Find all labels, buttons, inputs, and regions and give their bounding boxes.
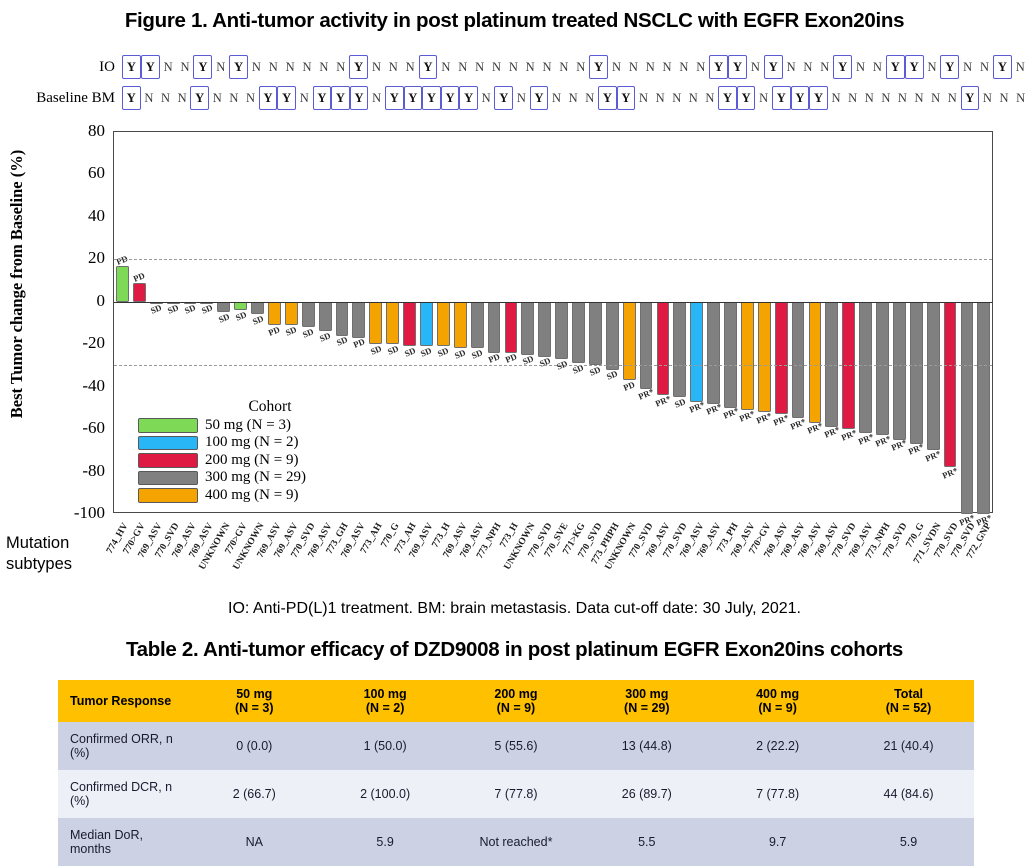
bar-response-label: SD bbox=[183, 303, 197, 317]
io-cell: N bbox=[315, 55, 332, 79]
bar-column[interactable]: SD bbox=[671, 132, 688, 512]
table-row: Confirmed DCR, n (%)2 (66.7)2 (100.0)7 (… bbox=[58, 770, 974, 818]
bar[interactable] bbox=[420, 302, 433, 347]
y-axis-tick: 0 bbox=[5, 291, 105, 311]
table-cell: 7 (77.8) bbox=[712, 770, 843, 818]
table-cell: 13 (44.8) bbox=[581, 722, 712, 770]
bar-response-label: SD bbox=[369, 343, 383, 357]
bar-column[interactable]: PR* bbox=[722, 132, 739, 512]
io-cell: N bbox=[282, 55, 299, 79]
bar[interactable] bbox=[876, 302, 889, 436]
io-cell: N bbox=[488, 55, 505, 79]
bar[interactable] bbox=[775, 302, 788, 414]
bar-column[interactable]: PR* bbox=[925, 132, 942, 512]
table-column-header-line2: (N = 29) bbox=[583, 701, 710, 715]
x-axis-column: 773_AH bbox=[367, 519, 384, 589]
table-column-header: 300 mg(N = 29) bbox=[581, 680, 712, 722]
y-axis-tick: 40 bbox=[5, 206, 105, 226]
bar-column[interactable]: PD bbox=[114, 132, 131, 512]
bar-response-label: PR* bbox=[772, 412, 790, 427]
bar-column[interactable]: PD bbox=[486, 132, 503, 512]
bm-cell: Y bbox=[772, 86, 791, 110]
io-cell: Y bbox=[709, 55, 728, 79]
io-cell: Y bbox=[141, 55, 160, 79]
io-cell: Y bbox=[764, 55, 783, 79]
bar[interactable] bbox=[825, 302, 838, 427]
bar[interactable] bbox=[268, 302, 281, 325]
io-cell: Y bbox=[886, 55, 905, 79]
table-column-header-line2: (N = 3) bbox=[191, 701, 318, 715]
table-cell: 5.5 bbox=[581, 818, 712, 866]
legend-item[interactable]: 100 mg (N = 2) bbox=[138, 434, 368, 452]
bm-cell: Y bbox=[718, 86, 737, 110]
bar-column[interactable]: PR* bbox=[705, 132, 722, 512]
bar-column[interactable]: PR* bbox=[908, 132, 925, 512]
x-axis-column: 770_SVD bbox=[891, 519, 908, 589]
bar-response-label: SD bbox=[538, 356, 552, 370]
bar-column[interactable]: PR* bbox=[823, 132, 840, 512]
legend-label: 200 mg (N = 9) bbox=[205, 452, 298, 469]
io-cell: Y bbox=[940, 55, 959, 79]
bm-cell: Y bbox=[313, 86, 332, 110]
bar-column[interactable]: SD bbox=[519, 132, 536, 512]
io-cell: N bbox=[1012, 55, 1029, 79]
table-cell: 1 (50.0) bbox=[320, 722, 451, 770]
io-cell: N bbox=[642, 55, 659, 79]
bar[interactable] bbox=[538, 302, 551, 357]
annotation-rows: IO YYNNYNYNNNNNNYNNNYNNNNNNNNNYNNNNNNYYN… bbox=[0, 52, 1029, 120]
table-column-header: 50 mg(N = 3) bbox=[189, 680, 320, 722]
bar-response-label: SD bbox=[470, 347, 484, 361]
bar-column[interactable]: PR* bbox=[688, 132, 705, 512]
bm-cell: N bbox=[226, 86, 243, 110]
bar[interactable] bbox=[302, 302, 315, 327]
bar-response-label: PR* bbox=[907, 442, 925, 457]
io-cell: N bbox=[212, 55, 229, 79]
bar-response-label: PD bbox=[132, 270, 146, 284]
bm-cell: N bbox=[652, 86, 669, 110]
bm-cell: Y bbox=[441, 86, 460, 110]
legend-label: 50 mg (N = 3) bbox=[205, 417, 291, 434]
bar[interactable] bbox=[893, 302, 906, 440]
bm-cell: N bbox=[979, 86, 996, 110]
bm-cell: Y bbox=[422, 86, 441, 110]
io-cell: N bbox=[869, 55, 886, 79]
bar[interactable] bbox=[217, 302, 230, 313]
bar-column[interactable]: SD bbox=[469, 132, 486, 512]
table-cell: 7 (77.8) bbox=[451, 770, 582, 818]
bar-response-label: PR* bbox=[941, 465, 959, 480]
table-cell: 26 (89.7) bbox=[581, 770, 712, 818]
table-cell: NA bbox=[189, 818, 320, 866]
mutation-subtypes-label-line: Mutation bbox=[6, 533, 111, 554]
bm-cell: Y bbox=[494, 86, 513, 110]
bm-cell: N bbox=[911, 86, 928, 110]
bar-response-label: SD bbox=[217, 311, 231, 325]
io-cell: Y bbox=[349, 55, 368, 79]
bar-column[interactable]: SD bbox=[367, 132, 384, 512]
x-axis-column: 773_NPH bbox=[485, 519, 502, 589]
bar[interactable] bbox=[251, 302, 264, 315]
table-cell: 2 (22.2) bbox=[712, 722, 843, 770]
io-cell: N bbox=[522, 55, 539, 79]
bar-response-label: PD bbox=[504, 351, 518, 365]
table-cell: 44 (84.6) bbox=[843, 770, 974, 818]
bm-cell: N bbox=[548, 86, 565, 110]
table-header-row: Tumor Response50 mg(N = 3)100 mg(N = 2)2… bbox=[58, 680, 974, 722]
bm-row-label: Baseline BM bbox=[0, 90, 121, 107]
legend-swatch bbox=[138, 418, 198, 433]
io-cell: N bbox=[659, 55, 676, 79]
bar-response-label: PR* bbox=[823, 425, 841, 440]
bm-cell: N bbox=[668, 86, 685, 110]
io-cell: N bbox=[505, 55, 522, 79]
x-axis-column: 769_ASV bbox=[418, 519, 435, 589]
chart-legend: Cohort 50 mg (N = 3)100 mg (N = 2)200 mg… bbox=[138, 398, 368, 505]
bar[interactable] bbox=[623, 302, 636, 381]
bar-column[interactable]: PR* bbox=[807, 132, 824, 512]
bar-column[interactable]: SD bbox=[570, 132, 587, 512]
bm-cell: N bbox=[755, 86, 772, 110]
bar-response-label: PR* bbox=[840, 427, 858, 442]
bar-response-label: SD bbox=[335, 334, 349, 348]
bar[interactable] bbox=[724, 302, 737, 408]
bar[interactable] bbox=[555, 302, 568, 359]
bar[interactable] bbox=[116, 266, 129, 302]
bar[interactable] bbox=[369, 302, 382, 344]
bar-response-label: PD bbox=[487, 351, 501, 365]
io-cell: N bbox=[332, 55, 349, 79]
io-cell: N bbox=[160, 55, 177, 79]
bar-response-label: PR* bbox=[654, 393, 672, 408]
bar-column[interactable]: PR* bbox=[739, 132, 756, 512]
bar-response-label: SD bbox=[419, 345, 433, 359]
table-column-header-line2: (N = 52) bbox=[845, 701, 972, 715]
bar[interactable] bbox=[977, 302, 990, 514]
bar[interactable] bbox=[809, 302, 822, 423]
bar[interactable] bbox=[471, 302, 484, 349]
bm-cell: Y bbox=[598, 86, 617, 110]
bar[interactable] bbox=[352, 302, 365, 338]
bar-column[interactable]: PR* bbox=[891, 132, 908, 512]
legend-swatch bbox=[138, 453, 198, 468]
bar-column[interactable]: PR* bbox=[638, 132, 655, 512]
bm-cell: Y bbox=[190, 86, 209, 110]
table-cell: 2 (66.7) bbox=[189, 770, 320, 818]
bar-column[interactable]: PR* bbox=[874, 132, 891, 512]
table-column-header-line2: (N = 9) bbox=[453, 701, 580, 715]
table-column-header-line1: 50 mg bbox=[191, 687, 318, 701]
bar-response-label: SD bbox=[149, 303, 163, 317]
bar-column[interactable]: PR* bbox=[942, 132, 959, 512]
io-cell: N bbox=[625, 55, 642, 79]
bar[interactable] bbox=[927, 302, 940, 451]
table-column-header: 400 mg(N = 9) bbox=[712, 680, 843, 722]
legend-swatch bbox=[138, 436, 198, 451]
legend-swatch bbox=[138, 471, 198, 486]
bar-response-label: SD bbox=[436, 345, 450, 359]
bm-cell: Y bbox=[385, 86, 404, 110]
bar-column[interactable]: PR* bbox=[756, 132, 773, 512]
bm-cell: N bbox=[209, 86, 226, 110]
bm-cell: Y bbox=[331, 86, 350, 110]
io-cell: N bbox=[608, 55, 625, 79]
zero-line bbox=[114, 302, 992, 303]
table-column-header-line1: Tumor Response bbox=[70, 694, 187, 708]
bm-cell: N bbox=[685, 86, 702, 110]
bm-cell: Y bbox=[617, 86, 636, 110]
io-row-label: IO bbox=[0, 59, 121, 76]
io-cell: N bbox=[924, 55, 941, 79]
bar-column[interactable]: SD bbox=[452, 132, 469, 512]
io-cell: N bbox=[959, 55, 976, 79]
legend-item[interactable]: 300 mg (N = 29) bbox=[138, 469, 368, 487]
bar-column[interactable]: PD bbox=[621, 132, 638, 512]
bm-cells: YNNNYNNNYYNYYYNYYYYYNYNYNNNYYNNNNNYYNYYY… bbox=[121, 85, 1029, 111]
io-cell: N bbox=[248, 55, 265, 79]
bar[interactable] bbox=[910, 302, 923, 444]
table-cell: Not reached* bbox=[451, 818, 582, 866]
bm-cell: N bbox=[513, 86, 530, 110]
bar-response-label: SD bbox=[453, 347, 467, 361]
bar-response-label: PD bbox=[267, 324, 281, 338]
bm-cell: N bbox=[368, 86, 385, 110]
bar[interactable] bbox=[741, 302, 754, 410]
io-cell: Y bbox=[905, 55, 924, 79]
io-cell: Y bbox=[833, 55, 852, 79]
table-cell: 0 (0.0) bbox=[189, 722, 320, 770]
efficacy-table: Tumor Response50 mg(N = 3)100 mg(N = 2)2… bbox=[58, 680, 974, 866]
bar[interactable] bbox=[589, 302, 602, 366]
io-cell: Y bbox=[122, 55, 141, 79]
bm-cell: N bbox=[1012, 86, 1029, 110]
figure-title: Figure 1. Anti-tumor activity in post pl… bbox=[0, 0, 1029, 33]
io-cell: N bbox=[177, 55, 194, 79]
io-cell: N bbox=[454, 55, 471, 79]
bar-response-label: SD bbox=[386, 343, 400, 357]
bm-cell: Y bbox=[961, 86, 980, 110]
y-axis-tick: -80 bbox=[5, 461, 105, 481]
bar-column[interactable]: SD bbox=[435, 132, 452, 512]
bar[interactable] bbox=[133, 283, 146, 302]
bar-response-label: PR* bbox=[806, 421, 824, 436]
bm-cell: N bbox=[478, 86, 495, 110]
table-column-header-line1: 300 mg bbox=[583, 687, 710, 701]
bar[interactable] bbox=[572, 302, 585, 364]
io-cell: Y bbox=[193, 55, 212, 79]
bm-cell: Y bbox=[122, 86, 141, 110]
table-column-header: 200 mg(N = 9) bbox=[451, 680, 582, 722]
table-cell: 9.7 bbox=[712, 818, 843, 866]
bar-response-label: PR* bbox=[688, 399, 706, 414]
bar[interactable] bbox=[336, 302, 349, 336]
bm-cell: N bbox=[944, 86, 961, 110]
bar-column[interactable]: PR* bbox=[857, 132, 874, 512]
legend-item[interactable]: 50 mg (N = 3) bbox=[138, 417, 368, 435]
bar-column[interactable]: SD bbox=[418, 132, 435, 512]
table-row: Confirmed ORR, n (%)0 (0.0)1 (50.0)5 (55… bbox=[58, 722, 974, 770]
bar-column[interactable]: PR* bbox=[790, 132, 807, 512]
io-cell: N bbox=[555, 55, 572, 79]
bm-cell: N bbox=[565, 86, 582, 110]
bar[interactable] bbox=[403, 302, 416, 347]
bar[interactable] bbox=[640, 302, 653, 389]
bm-cell: Y bbox=[404, 86, 423, 110]
io-cell: N bbox=[747, 55, 764, 79]
bar[interactable] bbox=[859, 302, 872, 434]
table-cell: 21 (40.4) bbox=[843, 722, 974, 770]
io-cells: YYNNYNYNNNNNNYNNNYNNNNNNNNNYNNNNNNYYNYNN… bbox=[121, 54, 1029, 80]
bar[interactable] bbox=[454, 302, 467, 349]
bar-response-label: PR* bbox=[873, 433, 891, 448]
table-row: Median DoR, monthsNA5.9Not reached*5.59.… bbox=[58, 818, 974, 866]
bar-response-label: SD bbox=[673, 396, 687, 410]
io-cell: N bbox=[800, 55, 817, 79]
bar-column[interactable]: SD bbox=[536, 132, 553, 512]
bar[interactable] bbox=[437, 302, 450, 347]
table-column-header: Tumor Response bbox=[58, 680, 189, 722]
table-row-label: Median DoR, months bbox=[58, 818, 189, 866]
bar[interactable] bbox=[657, 302, 670, 395]
bar[interactable] bbox=[386, 302, 399, 344]
bar-response-label: PD bbox=[352, 337, 366, 351]
bm-cell: Y bbox=[459, 86, 478, 110]
bar[interactable] bbox=[690, 302, 703, 402]
bar[interactable] bbox=[944, 302, 957, 468]
bar-response-label: SD bbox=[403, 345, 417, 359]
bm-cell: Y bbox=[259, 86, 278, 110]
bar-response-label: PR* bbox=[789, 416, 807, 431]
bar-column[interactable]: PR* bbox=[840, 132, 857, 512]
table-body: Confirmed ORR, n (%)0 (0.0)1 (50.0)5 (55… bbox=[58, 722, 974, 866]
legend-item[interactable]: 400 mg (N = 9) bbox=[138, 487, 368, 505]
bar[interactable] bbox=[758, 302, 771, 412]
io-cell: Y bbox=[993, 55, 1012, 79]
bm-cell: N bbox=[702, 86, 719, 110]
reference-line bbox=[114, 365, 992, 366]
bar-column[interactable]: PR* bbox=[959, 132, 976, 512]
y-axis-tick: 20 bbox=[5, 248, 105, 268]
bar-column[interactable]: SD bbox=[604, 132, 621, 512]
bar-column[interactable]: SD bbox=[401, 132, 418, 512]
y-axis-tick: 80 bbox=[5, 121, 105, 141]
bar-response-label: PR* bbox=[890, 438, 908, 453]
bar-response-label: PR* bbox=[637, 387, 655, 402]
bar[interactable] bbox=[285, 302, 298, 325]
x-axis-column: 769_ASV bbox=[705, 519, 722, 589]
bar-response-label: PR* bbox=[704, 401, 722, 416]
bar-response-label: PR* bbox=[856, 431, 874, 446]
x-axis-column: 772_GNP bbox=[976, 519, 993, 589]
table-row-label: Confirmed ORR, n (%) bbox=[58, 722, 189, 770]
bm-cell: N bbox=[844, 86, 861, 110]
bar[interactable] bbox=[319, 302, 332, 332]
table-column-header: 100 mg(N = 2) bbox=[320, 680, 451, 722]
bm-cell: N bbox=[174, 86, 191, 110]
legend-item[interactable]: 200 mg (N = 9) bbox=[138, 452, 368, 470]
bar[interactable] bbox=[792, 302, 805, 419]
table-column-header-line2: (N = 9) bbox=[714, 701, 841, 715]
bar[interactable] bbox=[505, 302, 518, 353]
bar[interactable] bbox=[606, 302, 619, 370]
io-cell: N bbox=[539, 55, 556, 79]
table-column-header-line1: 200 mg bbox=[453, 687, 580, 701]
io-cell: N bbox=[265, 55, 282, 79]
y-axis-ticks: 806040200-20-40-60-80-100 bbox=[0, 131, 113, 513]
io-cell: N bbox=[692, 55, 709, 79]
table-title: Table 2. Anti-tumor efficacy of DZD9008 … bbox=[0, 638, 1029, 662]
bar[interactable] bbox=[234, 302, 247, 310]
io-cell: N bbox=[385, 55, 402, 79]
bm-cell: N bbox=[581, 86, 598, 110]
legend-label: 400 mg (N = 9) bbox=[205, 487, 298, 504]
x-axis-labels: 774_HV770>GV769_ASV770_SVD769_ASV769_ASV… bbox=[113, 519, 993, 589]
io-cell: N bbox=[976, 55, 993, 79]
io-cell: N bbox=[299, 55, 316, 79]
io-cell: Y bbox=[728, 55, 747, 79]
bar[interactable] bbox=[707, 302, 720, 404]
io-cell: Y bbox=[229, 55, 248, 79]
bar-response-label: SD bbox=[234, 309, 248, 323]
bar-column[interactable]: SD bbox=[553, 132, 570, 512]
bar-response-label: SD bbox=[284, 324, 298, 338]
y-axis-tick: -60 bbox=[5, 418, 105, 438]
y-axis-tick: -100 bbox=[5, 503, 105, 523]
table-cell: 5.9 bbox=[843, 818, 974, 866]
bar-column[interactable]: SD bbox=[587, 132, 604, 512]
bar-response-label: PR* bbox=[721, 406, 739, 421]
mutation-subtypes-label: Mutationsubtypes bbox=[6, 533, 111, 575]
bm-cell: Y bbox=[809, 86, 828, 110]
table-cell: 2 (100.0) bbox=[320, 770, 451, 818]
bar[interactable] bbox=[488, 302, 501, 353]
bar[interactable] bbox=[961, 302, 974, 514]
bar-column[interactable]: PR* bbox=[773, 132, 790, 512]
table-cell: 5.9 bbox=[320, 818, 451, 866]
bar-column[interactable]: PR* bbox=[975, 132, 992, 512]
io-cell: N bbox=[572, 55, 589, 79]
bar-response-label: SD bbox=[166, 303, 180, 317]
bar-response-label: SD bbox=[301, 326, 315, 340]
legend-label: 300 mg (N = 29) bbox=[205, 469, 306, 486]
bar-response-label: PR* bbox=[924, 448, 942, 463]
bm-cell: N bbox=[996, 86, 1013, 110]
io-cell: N bbox=[816, 55, 833, 79]
legend-label: 100 mg (N = 2) bbox=[205, 434, 298, 451]
bar-column[interactable]: SD bbox=[384, 132, 401, 512]
bar-response-label: SD bbox=[571, 362, 585, 376]
bm-cell: Y bbox=[530, 86, 549, 110]
bar-response-label: SD bbox=[318, 330, 332, 344]
table-cell: 5 (55.6) bbox=[451, 722, 582, 770]
io-cell: Y bbox=[589, 55, 608, 79]
bar-response-label: SD bbox=[200, 303, 214, 317]
y-axis-tick: -20 bbox=[5, 333, 105, 353]
bm-cell: N bbox=[927, 86, 944, 110]
bar-column[interactable]: PR* bbox=[655, 132, 672, 512]
io-cell: Y bbox=[419, 55, 438, 79]
io-cell: N bbox=[852, 55, 869, 79]
table-row-label: Confirmed DCR, n (%) bbox=[58, 770, 189, 818]
bar-response-label: SD bbox=[605, 368, 619, 382]
bm-cell: Y bbox=[350, 86, 369, 110]
y-axis-tick: 60 bbox=[5, 163, 105, 183]
bar-column[interactable]: PD bbox=[502, 132, 519, 512]
bar[interactable] bbox=[673, 302, 686, 398]
bar-response-label: PD bbox=[622, 379, 636, 393]
table-column-header-line2: (N = 2) bbox=[322, 701, 449, 715]
bar[interactable] bbox=[521, 302, 534, 355]
